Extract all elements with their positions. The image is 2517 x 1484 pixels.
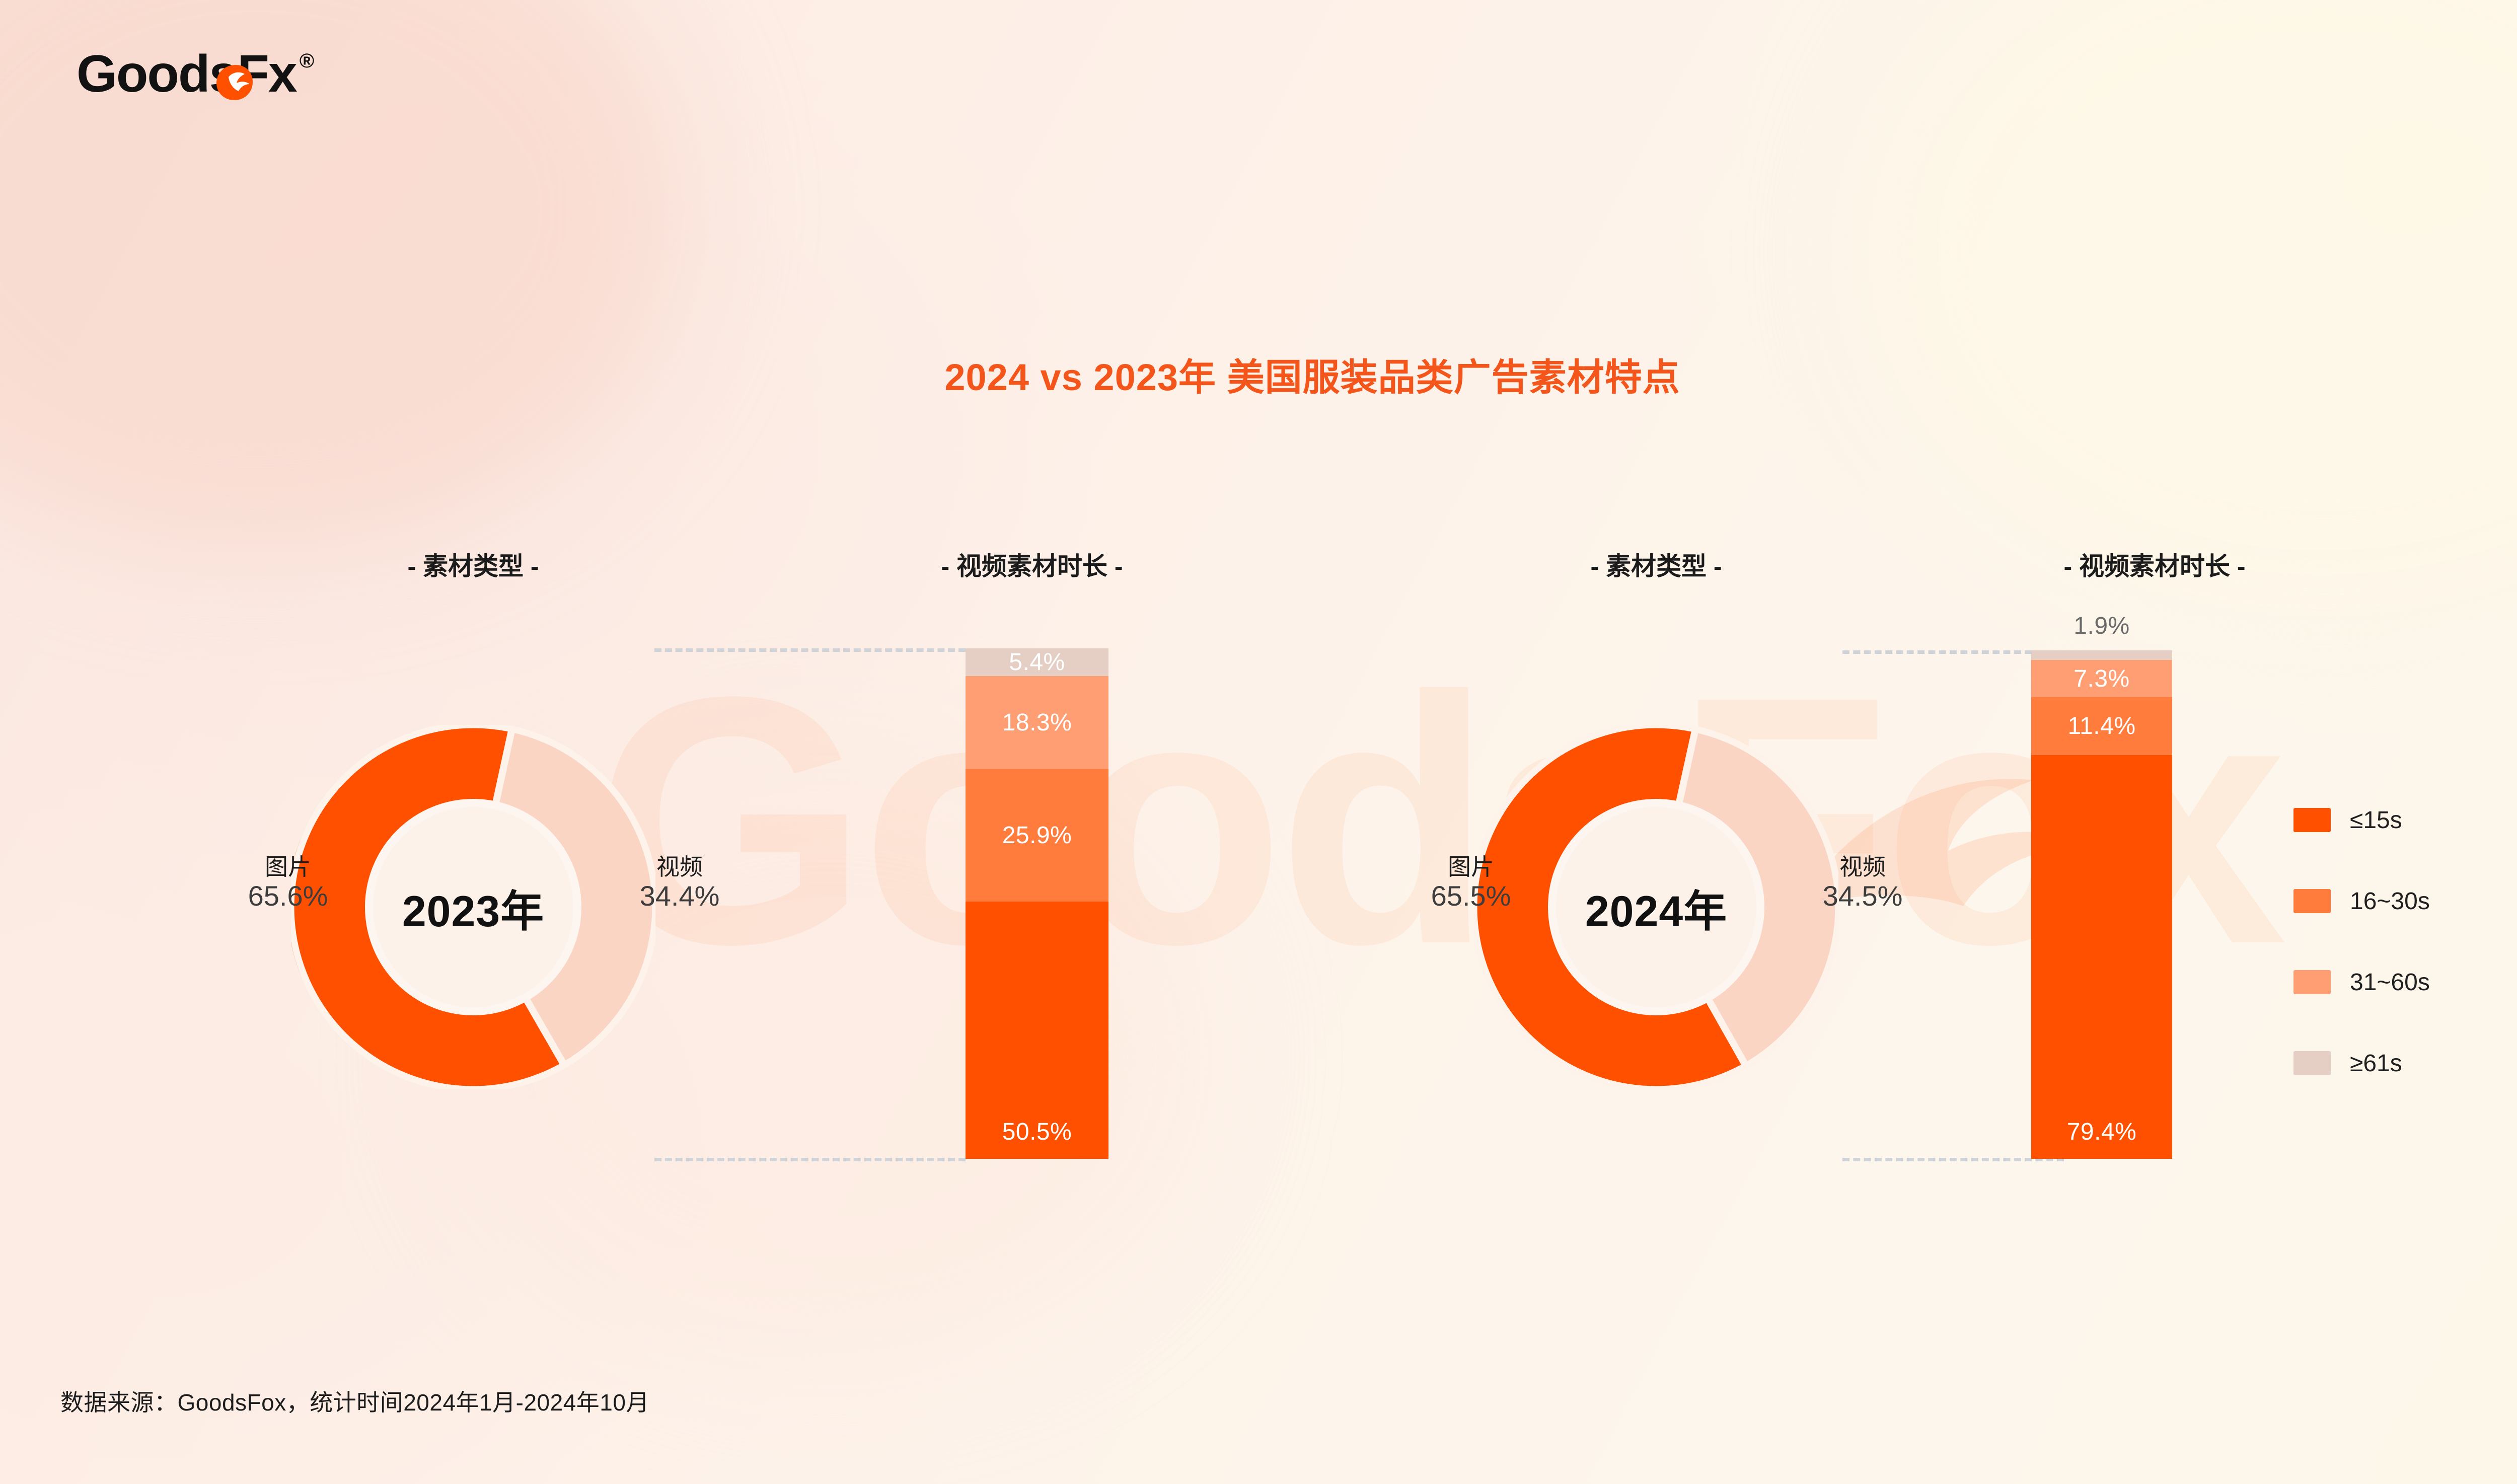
connector-2024-bottom <box>1842 1158 2064 1161</box>
donut-2024-label-video-name: 视频 <box>1797 854 1928 880</box>
bar-2024-value-16-30s: 11.4% <box>2067 712 2135 740</box>
fox-icon <box>213 63 256 102</box>
legend-label-le15s: ≤15s <box>2350 806 2402 834</box>
donut-2024-label-image: 图片 65.5% <box>1405 854 1536 912</box>
donut-2023-label-image-value: 65.6% <box>223 880 353 912</box>
page-title: 2024 vs 2023年 美国服装品类广告素材特点 <box>0 347 2517 401</box>
bar-2024-segment-31-60s[interactable]: 7.3% <box>2031 660 2172 697</box>
legend-swatch-31-60s <box>2293 970 2331 994</box>
connector-2023-top <box>654 648 966 652</box>
legend-swatch-ge61s <box>2293 1051 2331 1075</box>
bar-2023-segment-31-60s[interactable]: 18.3% <box>966 676 1108 770</box>
legend-label-16-30s: 16~30s <box>2350 887 2430 915</box>
legend-label-ge61s: ≥61s <box>2350 1050 2402 1077</box>
bar-2024-segment-le15s[interactable]: 79.4% <box>2031 755 2172 1159</box>
brand-logo: GoodsFx ® <box>77 48 314 100</box>
bar-2024-value-31-60s: 7.3% <box>2074 665 2129 693</box>
donut-2024-label-image-name: 图片 <box>1405 854 1536 880</box>
legend-swatch-le15s <box>2293 808 2331 832</box>
bar-2023-segment-ge61s[interactable]: 5.4% <box>966 648 1108 676</box>
donut-2023-label-video-name: 视频 <box>614 854 745 880</box>
donut-2023-label-video-value: 34.4% <box>614 880 745 912</box>
panel-2023-video-duration-header: - 视频素材时长 - <box>866 546 1198 582</box>
legend-label-31-60s: 31~60s <box>2350 969 2430 996</box>
legend-item-le15s[interactable]: ≤15s <box>2293 805 2430 835</box>
legend: ≤15s 16~30s 31~60s ≥61s <box>2293 805 2430 1078</box>
stacked-bar-2023[interactable]: 5.4% 18.3% 25.9% 50.5% <box>966 648 1108 1159</box>
donut-2023-label-image: 图片 65.6% <box>223 854 353 912</box>
bar-2023-value-16-30s: 25.9% <box>1002 822 1072 849</box>
donut-2024-label-image-value: 65.5% <box>1405 880 1536 912</box>
donut-2023-label-image-name: 图片 <box>223 854 353 880</box>
bar-2023-segment-le15s[interactable]: 50.5% <box>966 902 1108 1159</box>
bar-2024-segment-16-30s[interactable]: 11.4% <box>2031 697 2172 755</box>
legend-swatch-16-30s <box>2293 889 2331 913</box>
legend-item-31-60s[interactable]: 31~60s <box>2293 968 2430 997</box>
panel-2024-material-type-header: - 素材类型 - <box>1485 546 1827 582</box>
legend-item-ge61s[interactable]: ≥61s <box>2293 1049 2430 1078</box>
brand-logo-wordmark: GoodsFx <box>77 48 297 100</box>
bar-2023-value-31-60s: 18.3% <box>1002 709 1072 736</box>
donut-2024-label-video: 视频 34.5% <box>1797 854 1928 912</box>
bar-2024-value-ge61s: 1.9% <box>2074 612 2129 640</box>
panel-2024-video-duration-header: - 视频素材时长 - <box>1988 546 2321 582</box>
bar-2023-value-le15s: 50.5% <box>1002 1118 1072 1146</box>
panel-2023-material-type-header: - 素材类型 - <box>302 546 644 582</box>
brand-trademark: ® <box>300 51 314 71</box>
bar-2024-value-le15s: 79.4% <box>2067 1118 2137 1146</box>
brand-logo-word-tail: x <box>268 45 297 103</box>
legend-item-16-30s[interactable]: 16~30s <box>2293 886 2430 916</box>
stacked-bar-2024[interactable]: 1.9% 7.3% 11.4% 79.4% <box>2031 650 2172 1159</box>
donut-2024-label-video-value: 34.5% <box>1797 880 1928 912</box>
donut-2023-label-video: 视频 34.4% <box>614 854 745 912</box>
bar-2023-value-ge61s: 5.4% <box>1009 648 1065 676</box>
bar-2024-segment-ge61s[interactable]: 1.9% <box>2031 650 2172 660</box>
data-source-footnote: 数据来源：GoodsFox，统计时间2024年1月-2024年10月 <box>60 1384 649 1418</box>
connector-2023-bottom <box>654 1158 966 1161</box>
bar-2023-segment-16-30s[interactable]: 25.9% <box>966 769 1108 902</box>
connector-2024-top <box>1842 650 2064 654</box>
